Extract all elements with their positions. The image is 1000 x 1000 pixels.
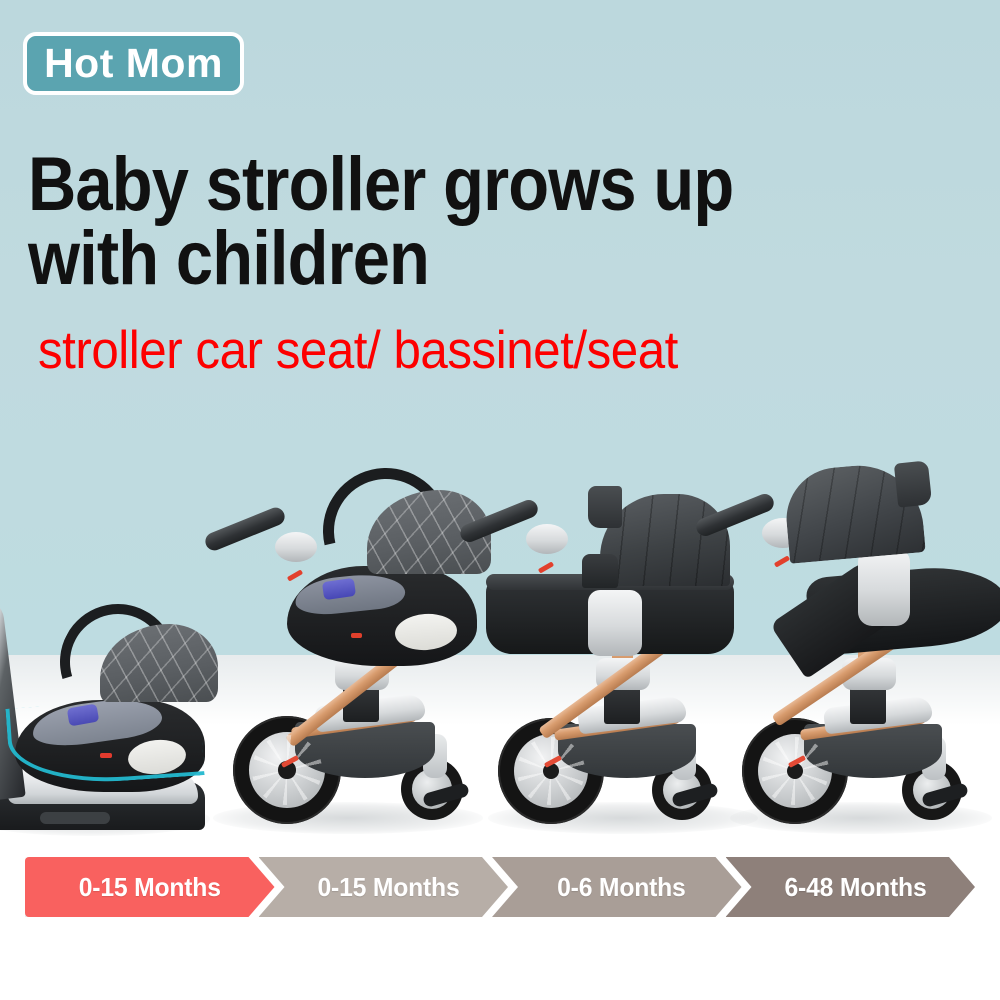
product-infant-car-seat-with-base	[0, 570, 220, 830]
product-stroller-with-toddler-seat	[712, 406, 1000, 826]
ribbon-step-4[interactable]: 6-48 Months	[726, 857, 976, 917]
ribbon-step-2-label: 0-15 Months	[307, 872, 459, 903]
product-stage	[0, 420, 1000, 840]
handle-release-lever	[287, 569, 303, 581]
canopy-visor	[894, 460, 932, 507]
page-title: Baby stroller grows up with children	[28, 148, 820, 295]
age-stage-ribbon: 0-15 Months 0-15 Months 0-6 Months 6-48 …	[25, 857, 975, 917]
ribbon-step-3[interactable]: 0-6 Months	[492, 857, 742, 917]
promo-banner: Hot Mom Baby stroller grows up with chil…	[0, 0, 1000, 1000]
handle-release-lever	[774, 555, 790, 567]
ribbon-step-2[interactable]: 0-15 Months	[259, 857, 509, 917]
bassinet-hood-visor	[588, 486, 622, 528]
handle-release-lever	[538, 561, 554, 573]
recline-joint	[858, 548, 910, 626]
base-recline-foot	[40, 812, 110, 824]
product-stroller-with-car-seat	[195, 426, 495, 826]
handlebar-joint	[275, 532, 317, 562]
bassinet-mount	[588, 590, 642, 656]
base-load-leg	[0, 598, 26, 804]
ribbon-step-1[interactable]: 0-15 Months	[25, 857, 275, 917]
page-subtitle: stroller car seat/ bassinet/seat	[38, 324, 922, 377]
brand-name: Hot Mom	[44, 43, 223, 84]
ribbon-step-1-label: 0-15 Months	[79, 872, 221, 903]
handlebar-joint	[526, 524, 568, 554]
release-tab	[351, 633, 362, 638]
brand-logo-badge: Hot Mom	[23, 32, 244, 95]
ribbon-step-3-label: 0-6 Months	[548, 872, 686, 903]
bassinet-headrest	[582, 554, 618, 588]
ribbon-step-4-label: 6-48 Months	[774, 872, 926, 903]
release-tab	[100, 753, 112, 758]
